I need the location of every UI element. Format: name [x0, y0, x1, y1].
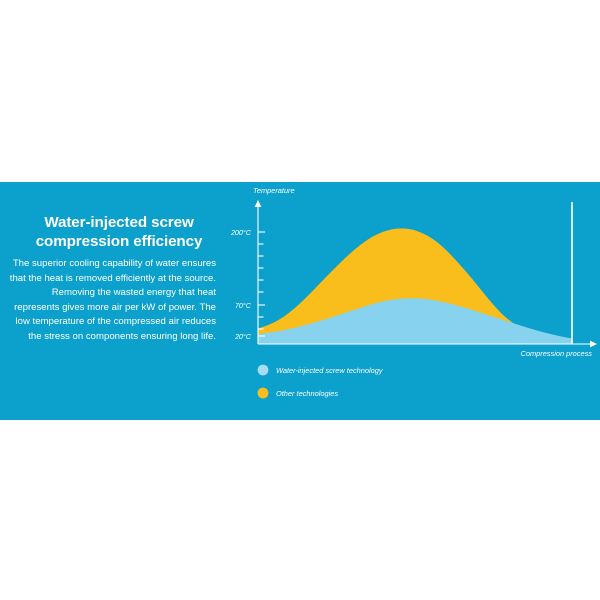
y-tick-label-20c: 20°C: [234, 332, 252, 341]
promo-banner: Water-injected screwcompression efficien…: [0, 182, 600, 420]
chart-legend: Water-injected screw technology Other te…: [258, 365, 384, 399]
legend-swatch-water-injected-screw: [258, 365, 269, 376]
body-paragraph: The superior cooling capability of water…: [8, 257, 216, 344]
page-title: Water-injected screwcompression efficien…: [8, 214, 216, 251]
y-axis-arrow-icon: [255, 200, 262, 207]
page-root: Water-injected screwcompression efficien…: [0, 0, 600, 600]
area-chart: Temperature: [222, 182, 600, 420]
y-axis-title: Temperature: [253, 186, 295, 195]
y-tick-label-200c: 200°C: [230, 228, 252, 237]
text-panel: Water-injected screwcompression efficien…: [8, 214, 216, 345]
x-axis-title: Compression process: [521, 349, 593, 358]
legend-label-other-technologies: Other technologies: [276, 389, 338, 398]
legend-swatch-other-technologies: [258, 388, 269, 399]
y-axis-ticks: [258, 232, 265, 336]
x-axis-arrow-icon: [590, 341, 597, 348]
headline-line-1: Water-injected screw: [44, 214, 193, 231]
y-tick-label-70c: 70°C: [235, 301, 252, 310]
legend-label-water-injected-screw: Water-injected screw technology: [276, 366, 384, 375]
headline-line-2: compression efficiency: [36, 233, 203, 250]
